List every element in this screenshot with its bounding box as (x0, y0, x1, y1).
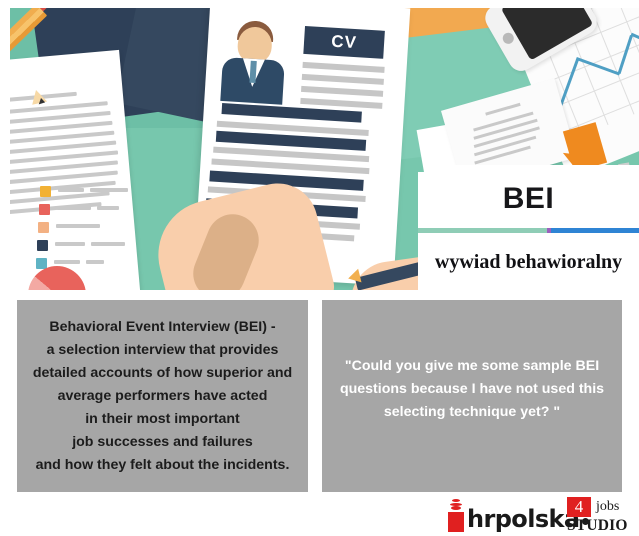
definition-text: Behavioral Event Interview (BEI) - a sel… (33, 316, 292, 477)
cv-title-badge: CV (303, 26, 385, 59)
footer: hrpolska 4 jobs STUDIO (0, 492, 639, 536)
bei-subtitle: wywiad behawioralny (418, 238, 639, 286)
paper-sheet-left (10, 50, 140, 290)
bei-title: BEI (418, 176, 639, 222)
hrpolska-mark-icon (447, 498, 465, 532)
fourjobs-top-row: 4 jobs (567, 496, 633, 517)
slide-root: CV Selected (0, 0, 639, 536)
definition-panel: Behavioral Event Interview (BEI) - a sel… (17, 300, 308, 492)
quote-panel: "Could you give me some sample BEI quest… (322, 300, 622, 492)
hero-illustration: CV Selected (0, 0, 639, 290)
quote-text: "Could you give me some sample BEI quest… (340, 355, 604, 424)
fourjobs-studio-logo[interactable]: 4 jobs STUDIO (567, 496, 633, 534)
hrpolska-wordmark-text: hrpolska (467, 505, 579, 533)
fourjobs-numeral-badge: 4 (567, 497, 591, 517)
fourjobs-studio-label: STUDIO (567, 517, 633, 534)
bei-divider-accent (547, 228, 639, 233)
fourjobs-jobs-label: jobs (596, 500, 619, 514)
